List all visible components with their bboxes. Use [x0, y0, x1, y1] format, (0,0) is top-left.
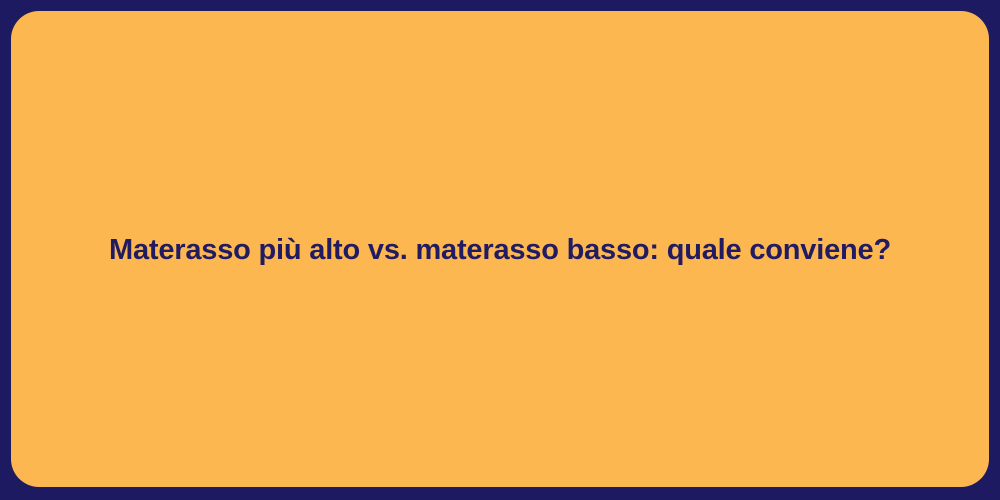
headline-block: Materasso più alto vs. materasso basso: …: [11, 232, 989, 268]
title-card-surface: Materasso più alto vs. materasso basso: …: [11, 11, 989, 487]
page-title: Materasso più alto vs. materasso basso: …: [51, 232, 949, 268]
title-card-frame: Materasso più alto vs. materasso basso: …: [0, 0, 1000, 500]
